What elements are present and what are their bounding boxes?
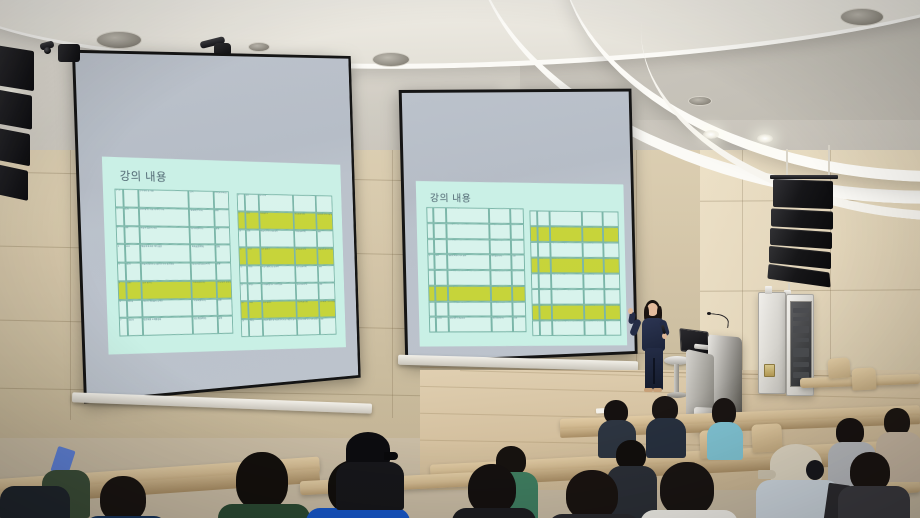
slide-table-header: 강의제목 및 내용 <box>446 207 489 223</box>
slide-table-cell-topic: 메모리 재료물리 분해소 <box>142 299 193 318</box>
slide-table-cell-topic: 복합적 분석공정 설계자 <box>551 273 583 289</box>
slide-table-cell-date: 11/20 <box>247 283 261 301</box>
screen-surface-right: 강의 내용 주 차강의제목 및 내용강사비고(교과목명)18/26공학 설계 /… <box>399 89 638 364</box>
slide-table-cell-lecturer: 홍길동(부학장) <box>189 208 214 226</box>
slide-table-cell-topic: 공학 설계 / 개론 학개의 이해 <box>139 208 190 227</box>
slide-table-cell-date: 9/4 <box>434 238 447 254</box>
slide-table-cell-date: 9/4 <box>124 226 140 245</box>
slide-table-cell-date: 10/23 <box>127 318 143 337</box>
slide-table-cell-lecturer: 윤주환(공학부) <box>583 273 605 289</box>
slide-table-cell-date: 11/6 <box>537 226 550 242</box>
slide-table-cell-topic: 반도체공 소재공정공 <box>142 317 193 336</box>
slide-table-cell-topic: 복합적 구조의 재료설계 <box>259 230 294 248</box>
presenter-shoe <box>644 388 653 392</box>
slide-table-cell-lecturer: 이진모(공학부) <box>192 280 217 298</box>
slide-table-cell-lecturer: 최이슬(공학부) <box>490 255 512 271</box>
slide-table-cell-lecturer: 김규진(공학부) <box>583 289 605 305</box>
slide-table-cell-topic: 진로탐색 2 <box>259 212 294 230</box>
cap-brim <box>758 470 776 479</box>
slide-table-cell-date: 11/6 <box>245 211 259 229</box>
slide-table-cell-note: 공통 <box>318 265 335 283</box>
slide-table-header: 강사 <box>189 190 214 208</box>
cabinet-glass-door <box>790 301 812 387</box>
slide-table-cell-note: 전공탐색 공학과 전공공학과 <box>604 258 620 274</box>
wall-seam <box>392 118 393 418</box>
slide-table-cell-lecturer: 차재완(공학부) <box>582 242 604 258</box>
slide-table-cell-date: 9/11 <box>125 244 141 262</box>
cap-brim <box>384 452 398 460</box>
slide-table-cell-date: 11/20 <box>247 265 261 283</box>
slide-table-cell-note: 공통 <box>214 209 230 227</box>
slide-table-cell-topic: 재설계 목적과 의미 설명 <box>447 254 490 270</box>
slide-table-cell-note: 수강/경력 공학과 공통 전공공학과 <box>512 286 526 302</box>
microphone-capsule <box>707 312 711 315</box>
slide-table-cell-date: 10/2 <box>435 286 448 302</box>
wall-seam <box>742 150 743 400</box>
slide-table-cell-lecturer: 김규진(공학부) <box>296 283 319 301</box>
slide-table-header <box>581 211 603 227</box>
slide-table-cell-topic: 재설계 목적과 의미 설명 <box>140 244 191 262</box>
slide-table-cell-topic: 진로 탐색 1 <box>141 281 192 300</box>
slide-table-cell-note: 공통 <box>511 239 525 255</box>
baseball-cap <box>346 432 390 466</box>
slide-table-cell-date: 8/26 <box>434 223 447 239</box>
slide-table-cell-date: 12/11 <box>539 320 552 336</box>
slide-table-cell-note: 공통 <box>317 230 334 248</box>
slide-table-cell-lecturer: 김소영(공학부) <box>491 317 513 333</box>
projection-screen-right: 강의 내용 주 차강의제목 및 내용강사비고(교과목명)18/26공학 설계 /… <box>398 86 644 366</box>
slide-table-cell-topic: 복합적 분석공정 설계자 <box>261 265 296 283</box>
slide-table-cell-topic: 재설계 접근에 대한 <box>447 239 490 255</box>
slide-table-cell-lecturer: 유진형(공학부) <box>293 212 316 230</box>
lecture-hall-photo: 강의 내용 주 차강의제목 및 내용강사비고(교과목명)18/26공학 설계 /… <box>0 0 920 518</box>
slide-table-cell-topic: 진로 탐색 1 <box>448 286 491 302</box>
slide-table-header: 일시 <box>537 210 550 226</box>
slide-table-cell-date: 12/4 <box>539 305 552 321</box>
slide-table-cell-topic: 재설계 발표 및 최종보고서 작성 / 재설계 결과 발표회 진행 <box>262 318 297 337</box>
slide-table-cell-topic: 미래융합공학과 기초와 실제 <box>551 289 583 305</box>
slide-table-cell-topic: 진로 탐색 4 <box>262 300 297 318</box>
slide-table-header <box>123 189 139 208</box>
slide-table-cell-date: 9/25 <box>435 270 448 286</box>
slide-table-cell-note: 진로탐색 1 2 3 4 전공공학과 공학과 공학과 <box>319 300 336 318</box>
slide-table-cell-lecturer: 김정민(안전환경학부) <box>191 263 216 281</box>
slide-table-header <box>433 207 446 223</box>
slide-table-cell-topic: 미래융합공학과 기초와 실제 <box>261 283 296 301</box>
slide-table-cell-topic: 재설계 접근에 대한 <box>139 226 190 245</box>
slide-table-cell-note: 공통 <box>603 242 619 258</box>
slide-table-cell-lecturer: 유진형(공학부) <box>582 227 604 243</box>
slide-table-cell-date: 9/25 <box>125 263 141 281</box>
slide-table-cell-topic: 메모리 재료물리 분해소 <box>448 301 491 317</box>
slide-table-cell-date: 10/2 <box>126 281 142 300</box>
slide-table-cell-lecturer: 박성현(공학부) <box>491 301 513 317</box>
slide-table-header: 비고(교과목명) <box>213 191 229 209</box>
slide-table-cell-note: 공통 <box>512 270 526 286</box>
slide-table-cell-topic: 반도체공 소재공정공 <box>449 317 492 333</box>
slide-table-cell-lecturer: 이영화(공학부) <box>296 300 319 318</box>
slide-table-cell-note: 공통 <box>318 283 335 301</box>
slide-table-cell-date: 11/13 <box>538 258 551 274</box>
slide-title: 강의 내용 <box>430 189 472 205</box>
slide-table-header: 강사 <box>489 208 511 224</box>
slide-table-cell-note: 진로탐색 과목 전공 공통 공학과 <box>603 227 619 243</box>
slide-table-header: 강의주제 <box>549 211 581 227</box>
slide-table-cell-lecturer: 이영화(공학부) <box>583 305 605 321</box>
slide-table-cell-date: 12/4 <box>248 301 262 319</box>
slide-title: 강의 내용 <box>119 167 167 185</box>
slide-table-cell-date: 11/20 <box>538 273 551 289</box>
slide-table-cell-lecturer: 공학부(전체 교수 전체 진행) <box>584 320 606 336</box>
ceiling-speaker-icon <box>840 8 884 26</box>
slide-table-header: 일시 <box>245 194 259 212</box>
cabinet-top-object <box>765 286 772 294</box>
slide-table-cell-date: 10/16 <box>435 301 448 317</box>
slide-table-cell-lecturer: 공학부(전체 교수 전체 진행) <box>297 318 320 336</box>
slide-table-header <box>293 195 316 213</box>
slide-table-cell-note: 공통 <box>217 316 233 334</box>
slide-table-cell-note: 공통 <box>605 320 621 336</box>
slide-table-cell-topic: 재설계 결과보고 결론과 의미 평가대상 <box>140 263 191 281</box>
slide-table-cell-note: 공통 <box>512 301 526 317</box>
slide-table-cell-note: 전공탐색 공학과 전공공학과 <box>317 248 334 265</box>
slide-table-cell-note: 수강/경력 공학과 공통 전공공학과 <box>216 280 232 298</box>
slide-table-cell-date: 10/16 <box>126 299 142 318</box>
slide-table-cell-date: 11/20 <box>538 289 551 305</box>
slide-table-header: 강의주제 <box>258 194 293 212</box>
slide-table-cell-date: 10/23 <box>436 317 449 333</box>
slide-table-cell-topic: 재설계 발표 및 최종보고서 작성 / 재설계 결과 발표회 진행 <box>552 320 584 336</box>
slide-table-cell-date: 9/11 <box>434 254 447 270</box>
slide-table-cell-topic: 진로 탐색 3 <box>550 258 582 274</box>
headphone-ear-cup <box>806 460 824 480</box>
stool-stem <box>674 364 679 394</box>
slide-table-header <box>315 195 332 213</box>
slide-table-cell-lecturer: 박성현(공학부) <box>192 298 217 316</box>
wall-sign <box>764 364 775 377</box>
slide-table-cell-topic: 복합적 구조의 재료설계 <box>550 242 582 258</box>
presenter-hand <box>628 308 633 314</box>
slide-table-cell-topic: 진로 탐색 3 <box>260 247 295 265</box>
slide-table-cell-lecturer: 이진모(공학부) <box>491 286 513 302</box>
slide-table-cell-lecturer: 최이슬(공학부) <box>190 244 215 262</box>
slide-table-cell-topic: 공학 설계 / 개론 학개의 이해 <box>446 223 489 239</box>
slide-right: 강의 내용 주 차강의제목 및 내용강사비고(교과목명)18/26공학 설계 /… <box>416 181 627 347</box>
slide-table-cell-topic: 진로 탐색 4 <box>551 305 583 321</box>
presenter-leg-gap <box>653 358 655 384</box>
slide-left: 강의 내용 주 차강의제목 및 내용강사비고(교과목명)18/26공학 설계 /… <box>102 157 346 355</box>
slide-table-cell-note: 공통 <box>319 317 336 335</box>
screen-surface-left: 강의 내용 주 차강의제목 및 내용강사비고(교과목명)18/26공학 설계 /… <box>72 50 361 404</box>
ceiling-speaker-icon <box>688 96 712 106</box>
slide-table-header: 비고(교과목명) <box>510 208 524 224</box>
downlight <box>703 130 719 139</box>
slide-table-cell-note: 공통 <box>511 255 525 271</box>
slide-table-cell-lecturer: 김덕진(공학부) <box>190 226 215 244</box>
slide-table-cell-lecturer: 김소영(공학부) <box>193 316 218 334</box>
slide-table-cell-date: 11/13 <box>246 247 260 265</box>
slide-table-cell-topic: 재설계 결과보고 결론과 의미 평가대상 <box>447 270 490 286</box>
slide-table-cell-lecturer: 김재훈(공학부) <box>582 258 604 274</box>
slide-table-cell-note: 공통 <box>217 298 233 316</box>
slide-table-cell-note: 공통 <box>215 245 231 263</box>
av-cabinet-left[interactable] <box>758 292 786 394</box>
slide-table-header: 강의제목 및 내용 <box>138 189 189 208</box>
slide-table-cell-date: 11/6 <box>246 229 260 247</box>
presenter-shoe <box>653 388 662 392</box>
slide-table-cell-date: 11/6 <box>537 242 550 258</box>
slide-table-cell-date: 8/26 <box>123 207 139 226</box>
slide-table-cell-date: 12/11 <box>249 319 263 337</box>
slide-table-header <box>603 211 619 227</box>
slide-table-cell-note: 공통 <box>214 227 230 245</box>
slide-table-cell-note: 공통 <box>510 224 524 240</box>
slide-table-cell-note: 진로탐색 과목 전공 공통 공학과 <box>316 213 333 231</box>
projection-screen-left: 강의 내용 주 차강의제목 및 내용강사비고(교과목명)18/26공학 설계 /… <box>66 38 386 408</box>
chair-back[interactable] <box>827 357 850 378</box>
chair-back[interactable] <box>851 367 876 390</box>
slide-table-cell-lecturer: 홍길동(부학장) <box>489 223 511 239</box>
downlight <box>757 134 773 143</box>
slide-table-cell-lecturer: 차재완(공학부) <box>294 230 317 248</box>
slide-table-cell-lecturer: 윤주환(공학부) <box>295 265 318 283</box>
slide-table-cell-lecturer: 김덕진(공학부) <box>490 239 512 255</box>
slide-table-cell-note: 공통 <box>216 262 232 280</box>
slide-table-cell-topic: 진로탐색 2 <box>550 226 582 242</box>
slide-table-cell-note: 진로탐색 1 2 3 4 전공공학과 공학과 공학과 <box>605 305 621 321</box>
slide-table-cell-note: 공통 <box>604 289 620 305</box>
slide-table-cell-lecturer: 김재훈(공학부) <box>295 248 318 266</box>
slide-table-cell-note: 공통 <box>604 274 620 290</box>
slide-table-cell-lecturer: 김정민(안전환경학부) <box>490 270 512 286</box>
slide-table-cell-note: 공통 <box>513 317 527 333</box>
